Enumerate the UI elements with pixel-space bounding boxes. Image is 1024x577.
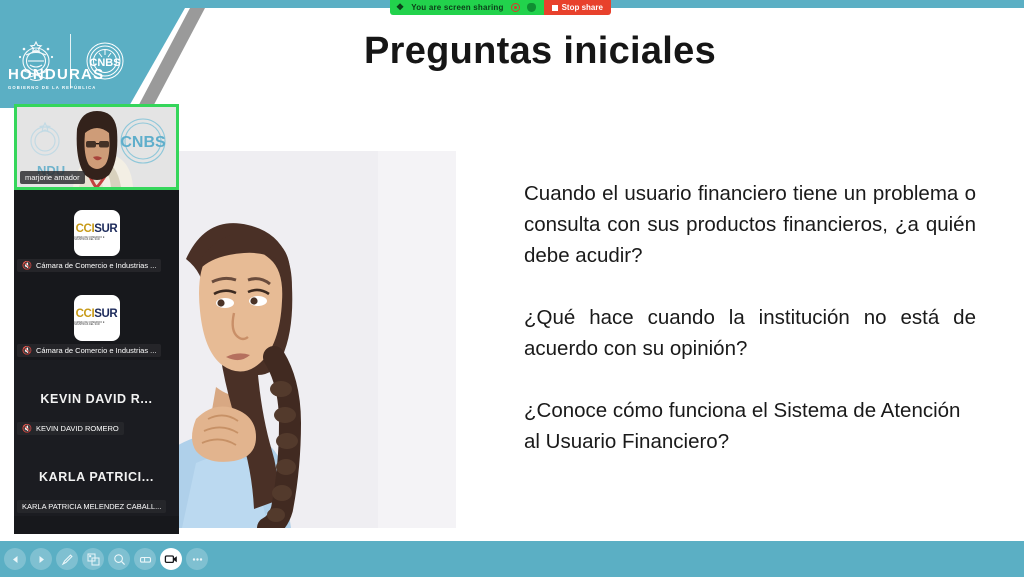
participant-name: marjorie amador — [25, 173, 80, 182]
ccisur-logo-icon: CCISUR CAMARA DE COMERCIO E INDUSTRIAS D… — [74, 295, 120, 341]
thinking-woman-photo — [178, 151, 456, 528]
more-options-button[interactable] — [186, 548, 208, 570]
honduras-tagline: GOBIERNO DE LA REPÚBLICA — [8, 85, 138, 90]
microphone-muted-icon: 🔇 — [22, 262, 32, 270]
microphone-muted-icon: 🔇 — [22, 425, 32, 433]
next-slide-button[interactable] — [30, 548, 52, 570]
ccisur-logo-text-2: SUR — [94, 223, 117, 235]
participant-filmstrip[interactable]: NDU CNBS marjorie — [14, 104, 179, 534]
ccisur-logo-text-1: CCI — [76, 223, 95, 235]
annotate-pen-button[interactable] — [56, 548, 78, 570]
shield-icon[interactable] — [527, 3, 536, 12]
eraser-button[interactable] — [134, 548, 156, 570]
video-button[interactable] — [160, 548, 182, 570]
participant-name-pill: marjorie amador — [20, 171, 85, 184]
participant-initials: KARLA PATRICI... — [39, 470, 154, 484]
participant-name: KEVIN DAVID ROMERO — [36, 424, 119, 433]
participant-tile-logo-1[interactable]: CCISUR CAMARA DE COMERCIO E INDUSTRIAS D… — [14, 190, 179, 275]
honduras-wordmark: HONDURAS GOBIERNO DE LA REPÚBLICA — [8, 66, 138, 90]
honduras-wordmark-text: HONDURAS — [8, 66, 138, 83]
screen-share-banner: ❖ You are screen sharing Stop share — [390, 0, 611, 15]
participant-initials: KEVIN DAVID R... — [40, 392, 152, 406]
participant-name: KARLA PATRICIA MELENDEZ CABALL... — [22, 502, 161, 511]
participant-tile-name-2[interactable]: KARLA PATRICI... KARLA PATRICIA MELENDEZ… — [14, 438, 179, 516]
participant-name: Cámara de Comercio e Industrias ... — [36, 346, 156, 355]
participant-name-pill: 🔇 KEVIN DAVID ROMERO — [17, 422, 124, 435]
ccisur-logo-caption: CAMARA DE COMERCIO E INDUSTRIAS DEL SUR — [74, 322, 120, 326]
svg-text:CNBS: CNBS — [120, 134, 166, 151]
sharing-status: ❖ You are screen sharing — [390, 0, 544, 15]
participant-tile-logo-2[interactable]: CCISUR CAMARA DE COMERCIO E INDUSTRIAS D… — [14, 275, 179, 360]
stop-share-button[interactable]: Stop share — [544, 0, 611, 15]
microphone-muted-icon: 🔇 — [22, 347, 32, 355]
cursor-icon: ❖ — [396, 3, 404, 12]
participant-name-pill: 🔇 Cámara de Comercio e Industrias ... — [17, 344, 161, 357]
multi-window-button[interactable] — [82, 548, 104, 570]
stop-share-label: Stop share — [562, 3, 603, 12]
participant-name-pill: KARLA PATRICIA MELENDEZ CABALL... — [17, 500, 166, 513]
page-title: Preguntas iniciales — [330, 30, 750, 73]
stop-square-icon — [552, 5, 558, 11]
participant-tile-active-speaker[interactable]: NDU CNBS marjorie — [14, 104, 179, 190]
slide-body-text: Cuando el usuario financiero tiene un pr… — [524, 178, 976, 457]
ccisur-logo-text-1: CCI — [76, 308, 95, 320]
participant-tile-name-1[interactable]: KEVIN DAVID R... 🔇 KEVIN DAVID ROMERO — [14, 360, 179, 438]
participant-name-pill: 🔇 Cámara de Comercio e Industrias ... — [17, 259, 161, 272]
previous-slide-button[interactable] — [4, 548, 26, 570]
participant-name: Cámara de Comercio e Industrias ... — [36, 261, 156, 270]
record-icon[interactable] — [511, 3, 520, 12]
ccisur-logo-text-2: SUR — [94, 308, 117, 320]
question-paragraph-2: ¿Qué hace cuando la institución no está … — [524, 302, 976, 364]
magnify-button[interactable] — [108, 548, 130, 570]
ccisur-logo-caption: CAMARA DE COMERCIO E INDUSTRIAS DEL SUR — [74, 237, 120, 241]
question-paragraph-1: Cuando el usuario financiero tiene un pr… — [524, 178, 976, 271]
question-paragraph-3: ¿Conoce cómo funciona el Sistema de Aten… — [524, 395, 976, 457]
annotation-toolbar[interactable] — [0, 541, 1024, 577]
sharing-status-label: You are screen sharing — [411, 3, 503, 12]
ccisur-logo-icon: CCISUR CAMARA DE COMERCIO E INDUSTRIAS D… — [74, 210, 120, 256]
